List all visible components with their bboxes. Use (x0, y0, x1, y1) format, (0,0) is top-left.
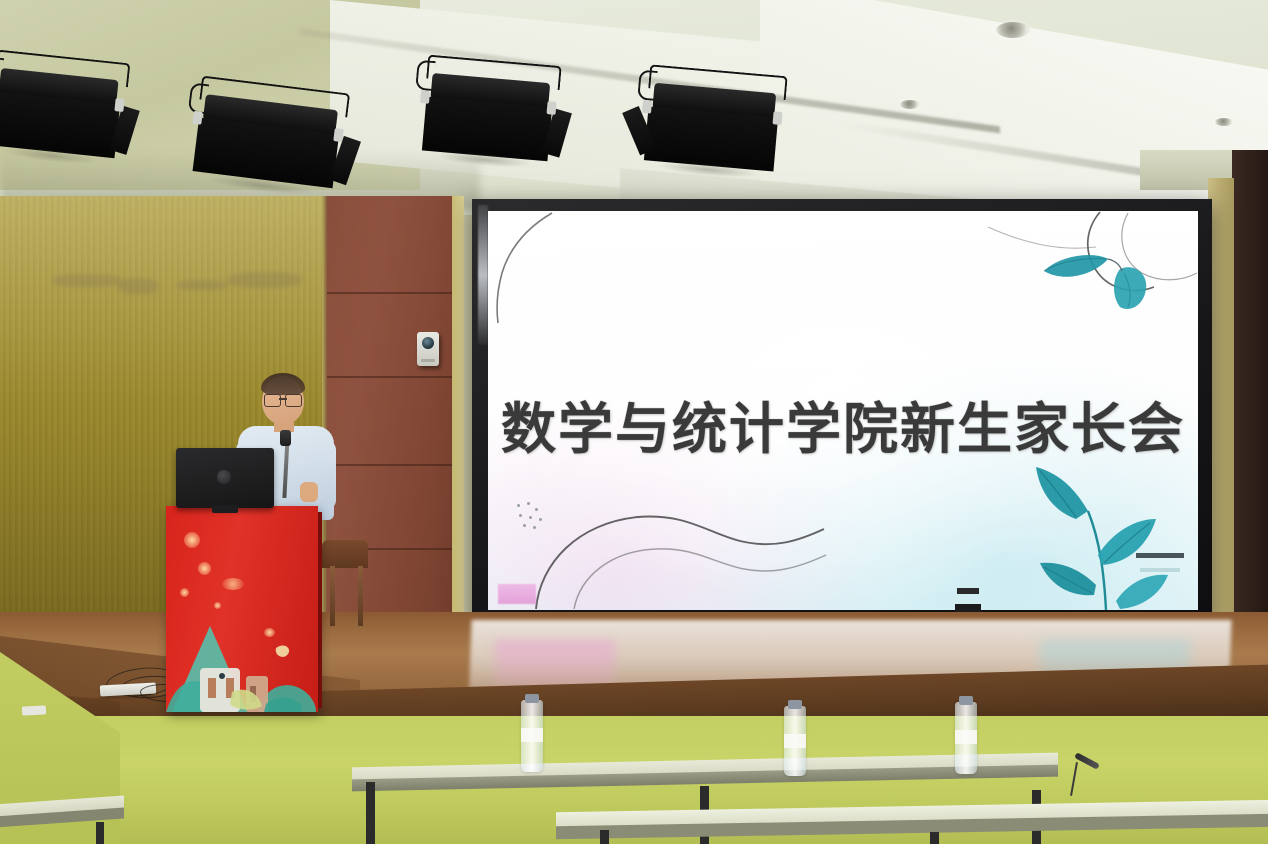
dot-cluster-decoration (515, 502, 549, 532)
line-art-top-left (497, 213, 552, 323)
stage-spotlight (191, 76, 346, 187)
downlight-icon (1215, 118, 1233, 126)
microphone-head-icon (280, 430, 291, 446)
bottle-label (784, 734, 806, 748)
bezel-highlight (478, 205, 488, 345)
wall-right-dark-panel (1232, 150, 1268, 670)
chair-leg (330, 566, 335, 626)
downlight-icon (996, 22, 1030, 38)
table-leg (96, 822, 104, 844)
table-leg (930, 832, 939, 844)
plant-decoration-bottom-right (1036, 467, 1168, 610)
pink-accent-block (498, 584, 536, 604)
dell-monitor (176, 448, 274, 508)
podium (166, 506, 318, 712)
spotlight-clamp (773, 111, 783, 125)
line-art-top-right-outer (1088, 212, 1154, 291)
spotlight-clamp (333, 128, 344, 142)
table-leg (600, 830, 609, 844)
stage-spotlight (420, 55, 558, 158)
chair-leg (358, 566, 363, 626)
lecture-hall-photo: 数学与统计学院新生家长会 (0, 0, 1268, 844)
line-art-top-right-inner (1122, 213, 1197, 280)
screen-bezel-tab (957, 588, 979, 594)
glasses-icon (264, 394, 302, 405)
presenter-hand (300, 482, 318, 502)
slide-title: 数学与统计学院新生家长会 (488, 384, 1198, 464)
stage-spotlight (0, 49, 126, 154)
bottle-cap-icon (788, 700, 802, 709)
chair (322, 540, 368, 568)
screen-edge-strip-light (1140, 568, 1180, 572)
bottle-label (955, 730, 977, 744)
floor-plug (22, 705, 46, 715)
line-art-bottom-left (536, 516, 826, 609)
spotlight-clamp (420, 90, 430, 104)
stage-spotlight (642, 64, 784, 167)
projection-screen: 数学与统计学院新生家长会 (488, 211, 1198, 610)
downlight-icon (900, 100, 920, 109)
table-leg (366, 782, 375, 844)
screen-edge-strip (1136, 553, 1184, 558)
line-art-top-sweep (988, 227, 1096, 248)
column-edge-right (452, 196, 464, 648)
camera-base (421, 359, 435, 362)
bottle-label (521, 728, 543, 742)
spotlight-clamp (114, 98, 124, 112)
camera-lens-icon (422, 337, 434, 349)
leaf-decoration-top-right (1044, 255, 1146, 309)
podium-illustration (166, 592, 318, 712)
brown-wall-column (327, 196, 462, 648)
spotlight-clamp (547, 101, 557, 115)
monitor-stand (212, 505, 238, 513)
spotlight-clamp (192, 111, 203, 125)
wall-mounted-camera-icon (417, 332, 439, 366)
bottle-cap-icon (525, 694, 539, 703)
bottle-cap-icon (959, 696, 973, 705)
spotlight-clamp (642, 100, 652, 114)
